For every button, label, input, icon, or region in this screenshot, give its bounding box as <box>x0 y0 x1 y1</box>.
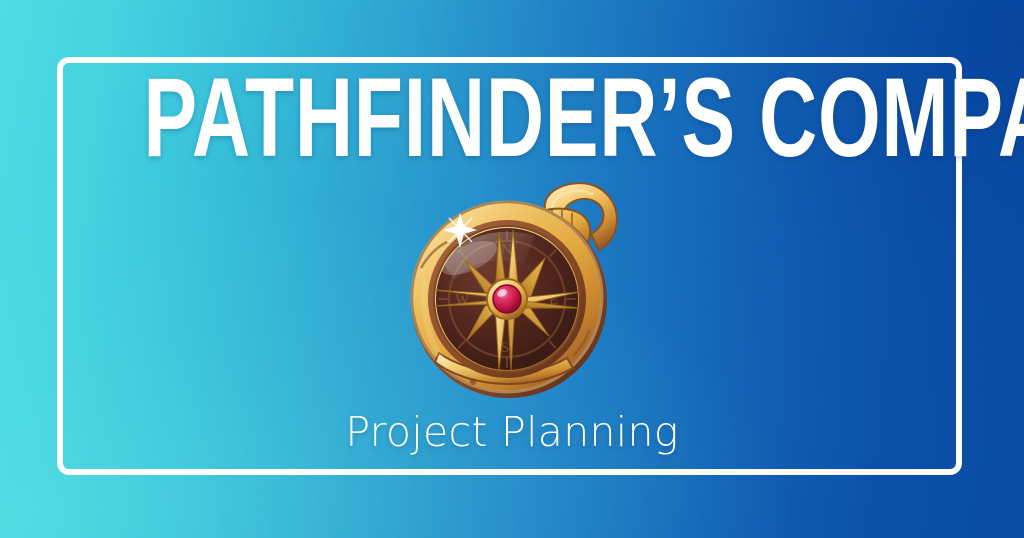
compass-illustration: N E S W <box>403 172 629 404</box>
ruby-center <box>487 279 527 319</box>
banner-graphic: PATHFINDER’S COMPASS <box>0 0 1024 538</box>
banner-subtitle: Project Planning <box>0 408 1024 456</box>
compass-icon: N E S W <box>403 172 629 404</box>
banner-title: PATHFINDER’S COMPASS <box>143 62 880 174</box>
